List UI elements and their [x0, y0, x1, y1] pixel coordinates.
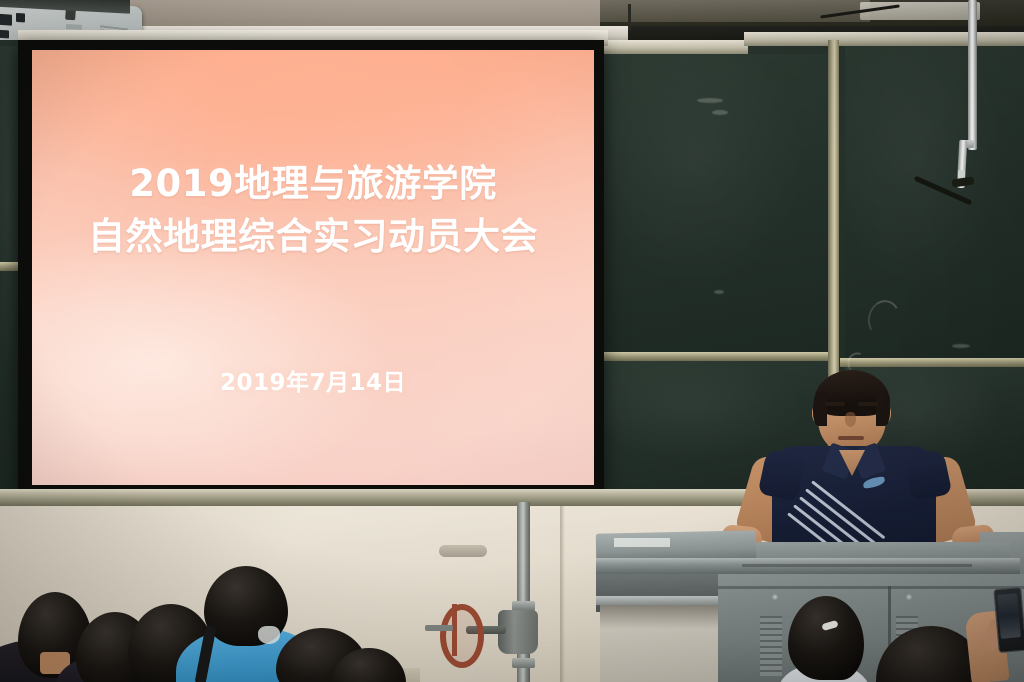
- speaker-mouth: [838, 436, 864, 440]
- ceiling-panel-right: [600, 0, 870, 22]
- pipe-valve-nut: [425, 625, 453, 631]
- projection-screen: 2019地理与旅游学院 自然地理综合实习动员大会 2019年7月14日: [32, 50, 594, 485]
- projector-port-icon: [0, 30, 9, 39]
- pipe-valve-spoke: [452, 604, 457, 656]
- blackboard-frame: [600, 352, 832, 361]
- podium-cavity-shadow: [600, 605, 718, 629]
- pipe-valve-wheel[interactable]: [440, 604, 484, 668]
- ceiling-cable-drop-icon: [628, 4, 631, 30]
- blackboard-frame: [0, 262, 20, 271]
- speaker-hair-side: [876, 392, 890, 426]
- speaker-hair-side: [813, 392, 827, 426]
- podium-screw-icon: [906, 594, 912, 600]
- smartphone-screen[interactable]: [997, 593, 1021, 639]
- projector-port-icon: [0, 14, 12, 26]
- pipe-flange: [512, 658, 535, 668]
- wall-pipe: [517, 502, 530, 682]
- chalk-residue: [712, 110, 728, 115]
- speaker-nose: [845, 412, 856, 427]
- audience-face-mask: [258, 626, 280, 644]
- speaker-eyebrow: [858, 402, 878, 406]
- chalk-residue: [952, 344, 970, 348]
- slide-title: 2019地理与旅游学院 自然地理综合实习动员大会: [32, 158, 594, 263]
- ceiling-lamp: [860, 2, 980, 20]
- podium-rail-groove: [742, 564, 972, 567]
- slide-title-line-1: 2019地理与旅游学院: [129, 162, 496, 205]
- drawer-slide-rail: [596, 596, 718, 605]
- podium-screw-icon: [772, 594, 778, 600]
- projector-port-icon: [16, 13, 25, 23]
- slide-title-line-2: 自然地理综合实习动员大会: [32, 211, 594, 264]
- blackboard-top-cap: [600, 40, 748, 54]
- blackboard-top-cap: [744, 32, 1024, 46]
- speaker-eye: [828, 410, 840, 415]
- wall-fixture-icon: [439, 545, 487, 557]
- chalk-residue: [714, 290, 724, 294]
- chalk-residue: [697, 98, 723, 103]
- wall-panel-edge: [560, 506, 565, 682]
- podium-vent-icon: [760, 616, 782, 676]
- screen-sheen: [32, 50, 594, 485]
- screen-vignette: [32, 50, 594, 485]
- speaker-eye: [861, 410, 873, 415]
- hanging-pole: [968, 0, 977, 150]
- slide-date: 2019年7月14日: [32, 363, 594, 397]
- speaker-eyebrow: [825, 402, 845, 406]
- podium-door-seam: [718, 586, 1024, 589]
- classroom-photo: 2019地理与旅游学院 自然地理综合实习动员大会 2019年7月14日: [0, 0, 1024, 682]
- podium-lid-label: [614, 538, 670, 547]
- polo-stripe: [811, 480, 885, 539]
